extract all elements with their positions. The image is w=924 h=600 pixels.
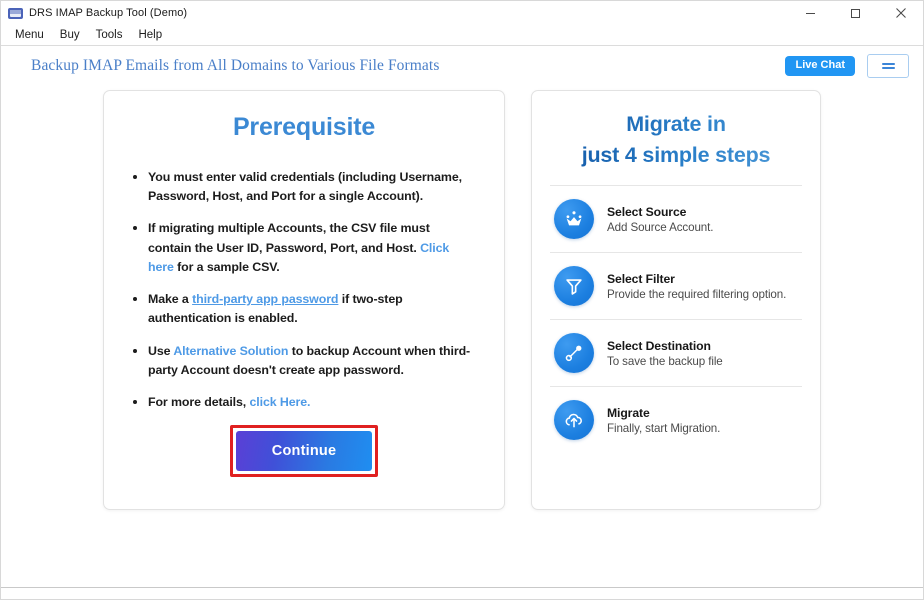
menu-item-buy[interactable]: Buy: [52, 27, 88, 43]
menu-item-tools[interactable]: Tools: [88, 27, 131, 43]
hamburger-icon-bar: [882, 67, 895, 69]
step-title: Migrate: [607, 406, 720, 420]
list-item: Use Alternative Solution to backup Accou…: [148, 342, 476, 380]
list-item: Make a third-party app password if two-s…: [148, 290, 476, 328]
step-description: Finally, start Migration.: [607, 422, 720, 435]
title-bar: DRS IMAP Backup Tool (Demo): [1, 1, 923, 25]
menu-bar: Menu Buy Tools Help: [1, 25, 923, 46]
migrate-title-line1: Migrate in: [550, 109, 802, 140]
step-text: Select Destination To save the backup fi…: [607, 339, 723, 368]
migrate-steps-card: Migrate in just 4 simple steps Select: [531, 90, 821, 510]
list-item: You must enter valid credentials (includ…: [148, 168, 476, 206]
step-title: Select Source: [607, 205, 713, 219]
step-select-filter: Select Filter Provide the required filte…: [550, 252, 802, 319]
hamburger-icon-bar: [882, 63, 895, 65]
step-text: Select Filter Provide the required filte…: [607, 272, 786, 301]
step-description: To save the backup file: [607, 355, 723, 368]
list-item: For more details, click Here.: [148, 393, 476, 412]
minimize-button[interactable]: [788, 1, 833, 25]
window-title: DRS IMAP Backup Tool (Demo): [29, 7, 187, 19]
title-bar-left: DRS IMAP Backup Tool (Demo): [1, 7, 187, 19]
continue-button[interactable]: Continue: [236, 431, 372, 471]
continue-button-area: Continue: [124, 425, 484, 477]
migrate-title: Migrate in just 4 simple steps: [550, 109, 802, 171]
prerequisite-card: Prerequisite You must enter valid creden…: [103, 90, 505, 510]
status-bar: [1, 587, 923, 599]
prerequisite-title: Prerequisite: [124, 113, 484, 142]
step-text: Migrate Finally, start Migration.: [607, 406, 720, 435]
hamburger-menu-button[interactable]: [867, 54, 909, 78]
step-text: Select Source Add Source Account.: [607, 205, 713, 234]
step-migrate: Migrate Finally, start Migration.: [550, 386, 802, 453]
destination-path-icon: [554, 333, 594, 373]
inline-link[interactable]: third-party app password: [192, 292, 338, 306]
header-actions: Live Chat: [785, 54, 909, 78]
funnel-filter-icon: [554, 266, 594, 306]
inline-link[interactable]: Click here: [148, 241, 449, 274]
window-controls: [788, 1, 923, 25]
prerequisite-list: You must enter valid credentials (includ…: [124, 168, 484, 425]
step-title: Select Destination: [607, 339, 723, 353]
main-content: Prerequisite You must enter valid creden…: [1, 86, 923, 587]
select-source-icon: [554, 199, 594, 239]
continue-annotation-box: Continue: [230, 425, 378, 477]
page-title: Backup IMAP Emails from All Domains to V…: [31, 57, 439, 75]
cloud-upload-icon: [554, 400, 594, 440]
steps-list: Select Source Add Source Account. Select…: [550, 185, 802, 453]
step-description: Provide the required filtering option.: [607, 288, 786, 301]
step-title: Select Filter: [607, 272, 786, 286]
step-description: Add Source Account.: [607, 221, 713, 234]
menu-item-help[interactable]: Help: [130, 27, 170, 43]
menu-item-menu[interactable]: Menu: [7, 27, 52, 43]
inline-link[interactable]: Alternative Solution: [173, 344, 288, 358]
step-select-destination: Select Destination To save the backup fi…: [550, 319, 802, 386]
migrate-title-line2: just 4 simple steps: [550, 140, 802, 171]
list-item: If migrating multiple Accounts, the CSV …: [148, 219, 476, 277]
close-button[interactable]: [878, 1, 923, 25]
step-select-source: Select Source Add Source Account.: [550, 185, 802, 252]
live-chat-button[interactable]: Live Chat: [785, 56, 855, 76]
app-window: DRS IMAP Backup Tool (Demo) Menu Buy Too…: [0, 0, 924, 600]
maximize-button[interactable]: [833, 1, 878, 25]
app-envelope-icon: [8, 8, 23, 19]
inline-link[interactable]: click Here.: [249, 395, 310, 409]
page-header: Backup IMAP Emails from All Domains to V…: [1, 46, 923, 86]
